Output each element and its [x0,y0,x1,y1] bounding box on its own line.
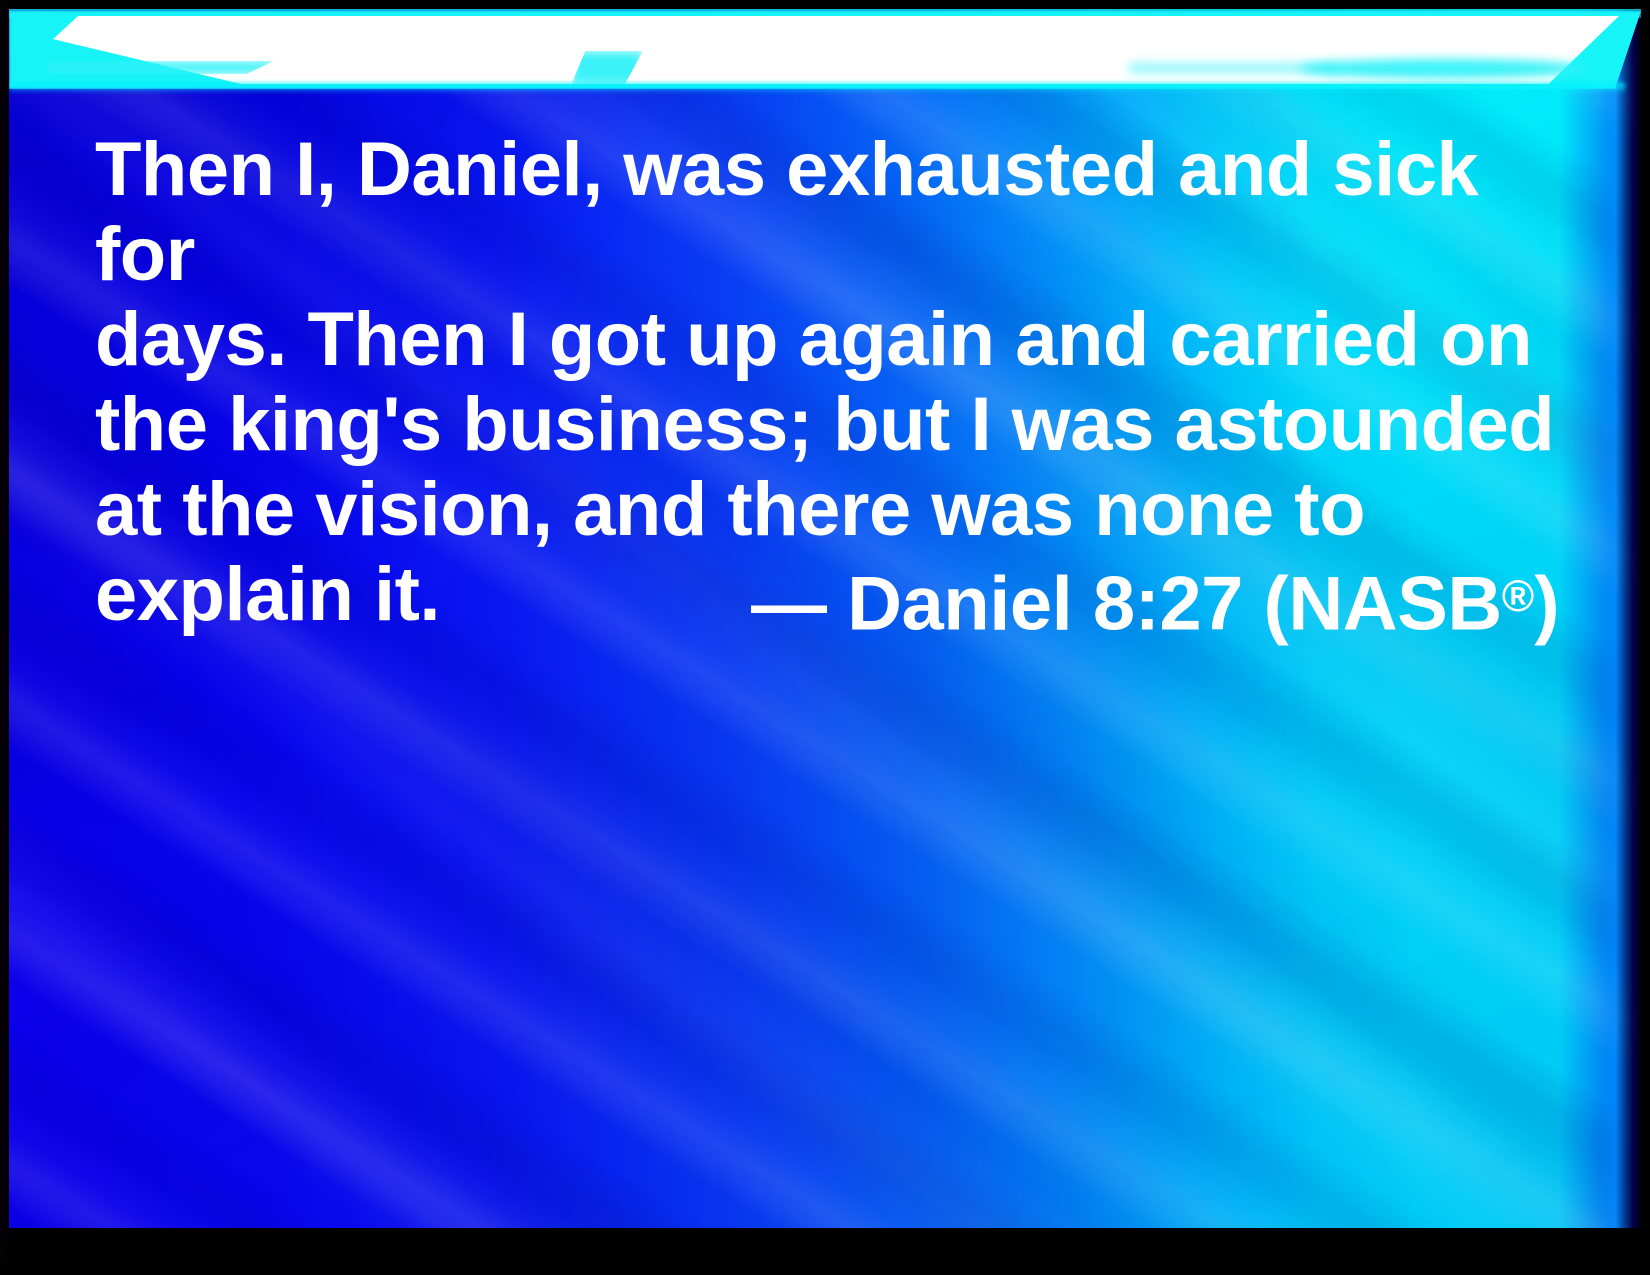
verse-citation: — Daniel 8:27 (NASB®) [95,554,1559,647]
band-wisp-left [44,61,274,74]
citation-suffix: ) [1534,562,1559,647]
band-wisp-right [1299,59,1589,78]
right-edge-falloff [1599,9,1641,1228]
registered-trademark-icon: ® [1502,572,1534,621]
slide-artwork-panel: Then I, Daniel, was exhausted and sick f… [9,9,1641,1228]
citation-prefix: — Daniel 8:27 (NASB [751,562,1502,647]
band-lower-glow [9,83,1625,93]
top-highlight-band [9,9,1641,105]
bible-verse-slide: Then I, Daniel, was exhausted and sick f… [0,0,1650,1275]
